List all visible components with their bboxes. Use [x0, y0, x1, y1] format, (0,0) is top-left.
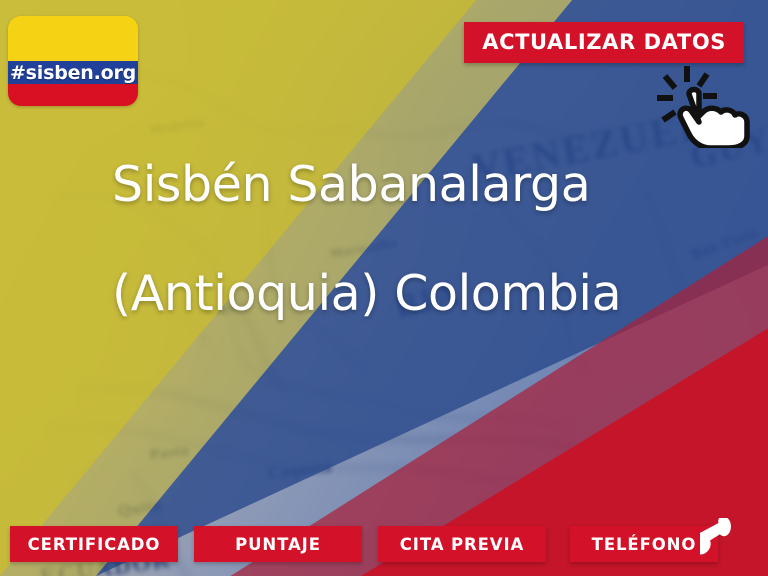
cita-previa-button[interactable]: CITA PREVIA [378, 526, 546, 562]
page-title: Sisbén Sabanalarga (Antioquia) Colombia [112, 160, 712, 318]
puntaje-button[interactable]: PUNTAJE [194, 526, 362, 562]
logo-flag-yellow-stripe [8, 16, 138, 61]
certificado-button[interactable]: CERTIFICADO [10, 526, 178, 562]
promo-banner: VENEZUELAGUYBoa VistaBIABogotáPastoCaque… [0, 0, 768, 576]
logo-flag-red-stripe [8, 84, 138, 106]
logo-text: #sisben.org [8, 61, 138, 84]
footer-button-bar: CERTIFICADO PUNTAJE CITA PREVIA TELÉFONO [0, 526, 768, 562]
title-line-2: (Antioquia) Colombia [112, 269, 712, 318]
phone-handset-icon [700, 518, 752, 570]
actualizar-datos-button[interactable]: ACTUALIZAR DATOS [464, 22, 744, 63]
sisben-logo[interactable]: #sisben.org [8, 16, 138, 106]
title-line-1: Sisbén Sabanalarga [112, 160, 712, 209]
telefono-button[interactable]: TELÉFONO [570, 526, 718, 562]
click-hand-cursor-icon [655, 60, 755, 148]
